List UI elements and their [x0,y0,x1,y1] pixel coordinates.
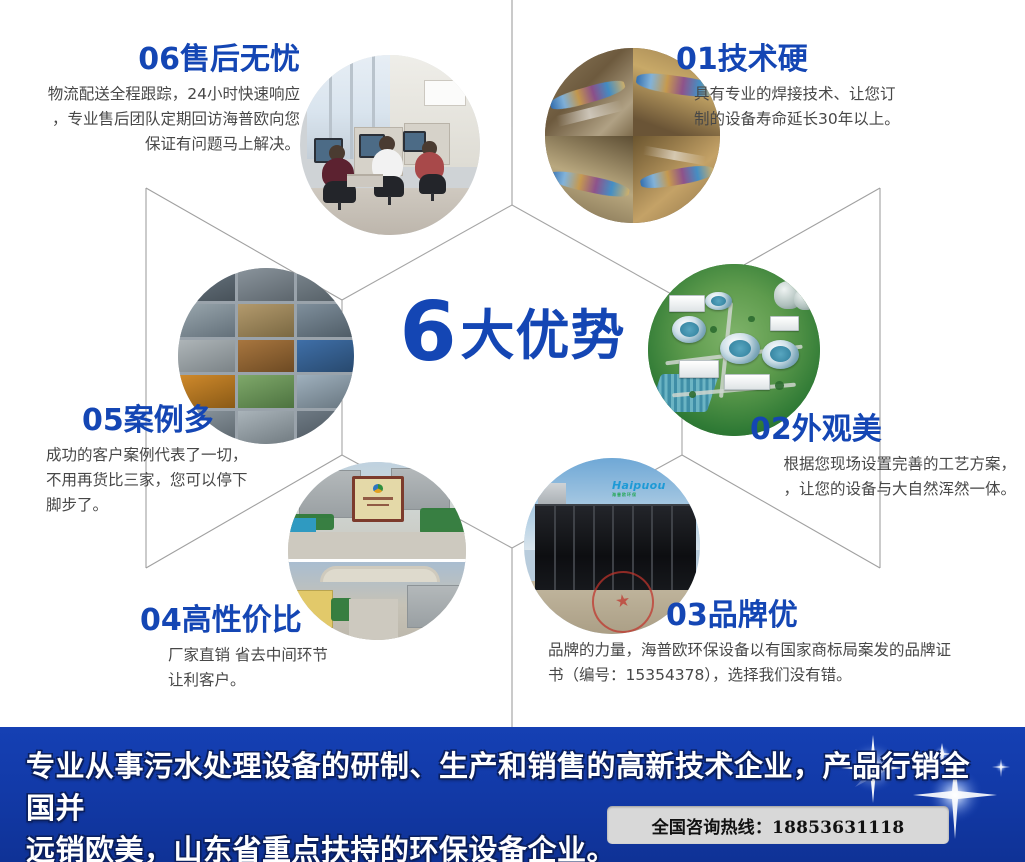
advantage-02-heading: 02外观美 [750,414,1016,446]
advantage-04-body: 厂家直销 省去中间环节 让利客户。 [168,643,520,693]
advantage-05-text: 05案例多 成功的客户案例代表了一切， 不用再货比三家，您可以停下 脚步了。 [46,405,376,518]
advantage-01-text: 01技术硬 具有专业的焊接技术、让您订 制的设备寿命延长30年以上。 [676,44,1016,132]
haipuou-logo-in-photo: Haipuou 海普欧环保 [612,479,666,498]
advantage-06-heading: 06售后无忧 [10,44,300,76]
office-staff-photo [300,55,480,235]
advantage-05-heading: 05案例多 [82,405,376,437]
advantage-03-heading: 03品牌优 [666,600,1018,632]
banner-slogan: 专业从事污水处理设备的研制、生产和销售的高新技术企业，产品行销全国并 远销欧美，… [26,745,986,862]
advantage-01-heading: 01技术硬 [676,44,1016,76]
advantage-01-body: 具有专业的焊接技术、让您订 制的设备寿命延长30年以上。 [694,82,1016,132]
hotline-text: 全国咨询热线：18853631118 [652,813,905,838]
advantage-03-body: 品牌的力量，海普欧环保设备以有国家商标局案发的品牌证 书（编号：15354378… [548,638,1018,688]
advantage-06-body: 物流配送全程跟踪，24小时快速响应 ，专业售后团队定期回访海普欧向您 保证有问题… [10,82,300,157]
advantage-02-body: 根据您现场设置完善的工艺方案， ，让您的设备与大自然浑然一体。 [700,452,1016,502]
advantage-04-text: 04高性价比 厂家直销 省去中间环节 让利客户。 [140,605,520,693]
hotline-badge: 全国咨询热线：18853631118 [607,806,949,844]
advantage-06-text: 06售后无忧 物流配送全程跟踪，24小时快速响应 ，专业售后团队定期回访海普欧向… [10,44,300,157]
treatment-plant-aerial-photo [648,264,820,436]
infographic-canvas: 06售后无忧 物流配送全程跟踪，24小时快速响应 ，专业售后团队定期回访海普欧向… [0,0,1025,862]
advantage-03-text: 03品牌优 品牌的力量，海普欧环保设备以有国家商标局案发的品牌证 书（编号：15… [548,600,1018,688]
advantage-04-heading: 04高性价比 [140,605,520,637]
advantage-02-text: 02外观美 根据您现场设置完善的工艺方案， ，让您的设备与大自然浑然一体。 [700,414,1016,502]
advantage-05-body: 成功的客户案例代表了一切， 不用再货比三家，您可以停下 脚步了。 [46,443,376,518]
